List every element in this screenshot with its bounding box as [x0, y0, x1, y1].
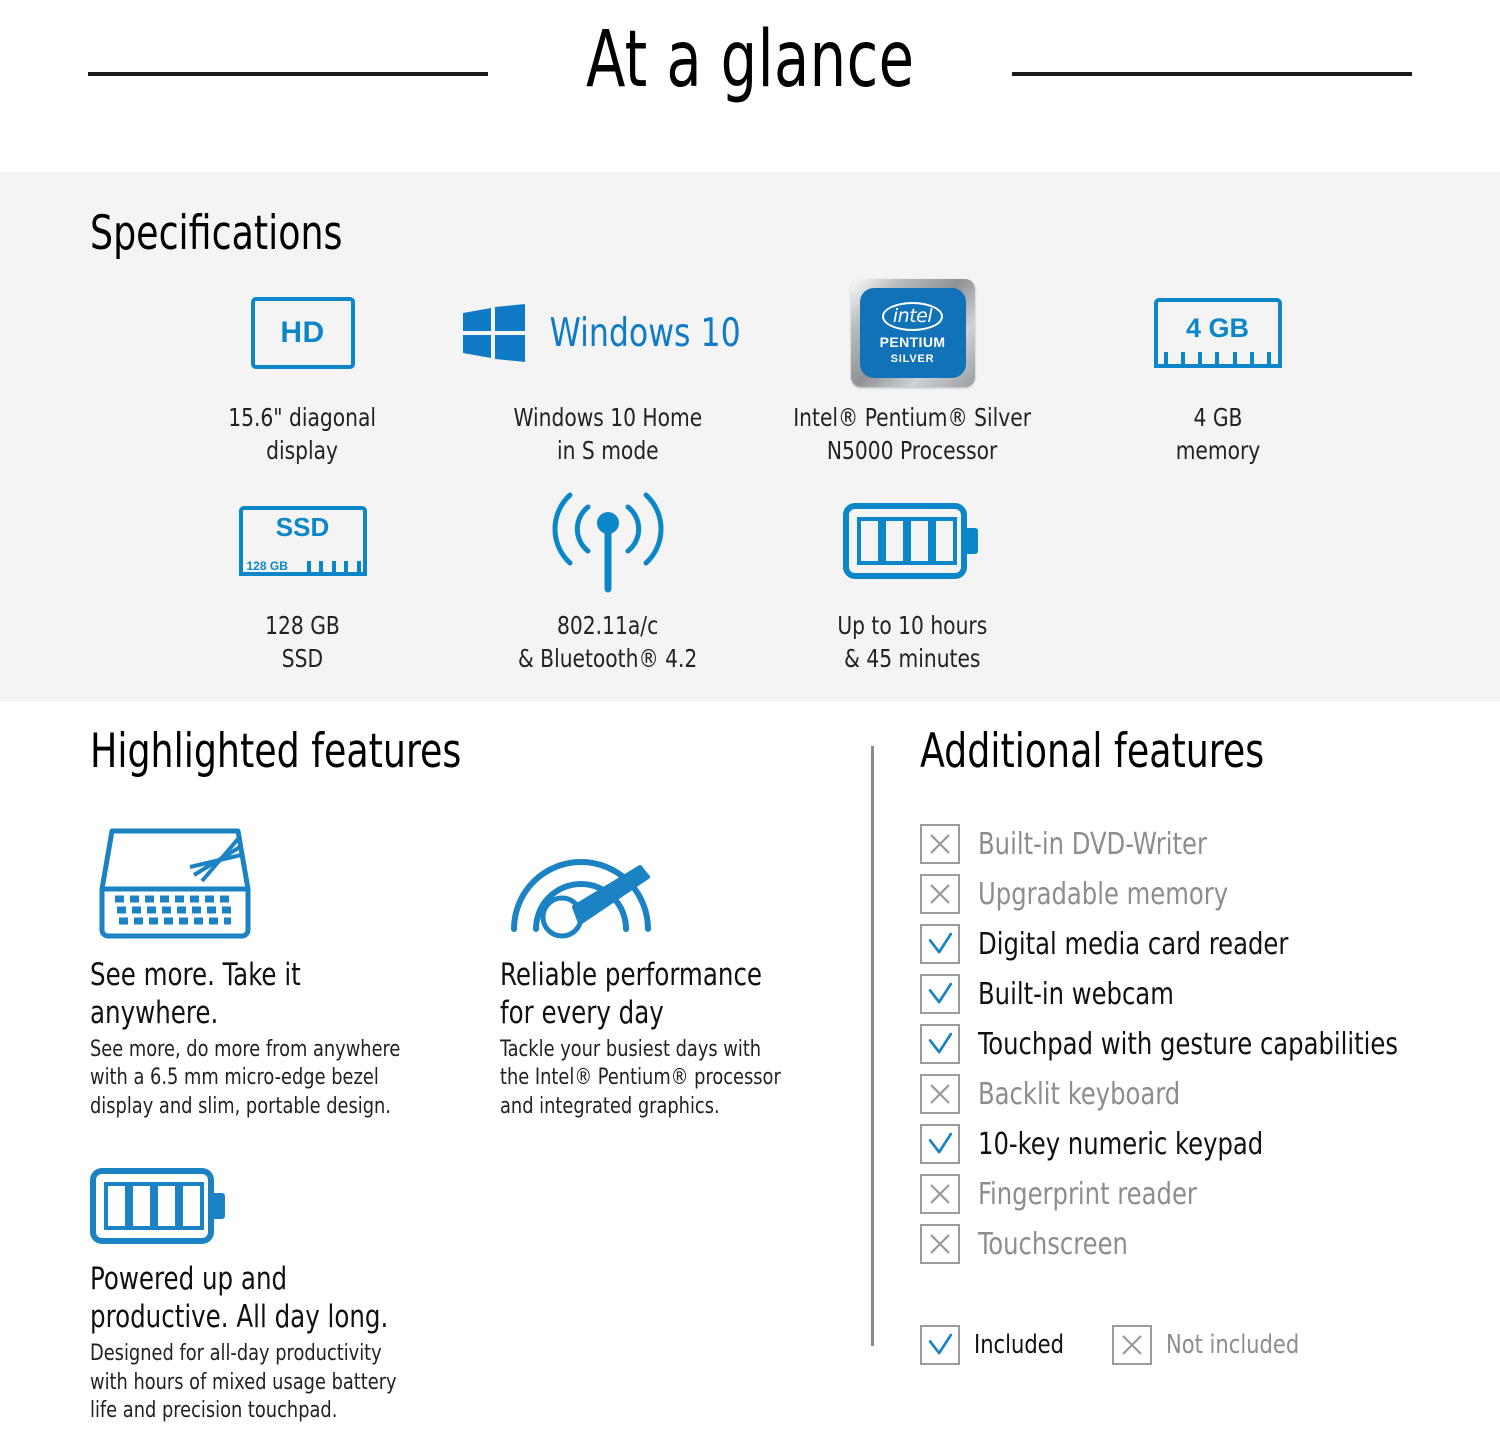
additional-features-title: Additional features — [920, 724, 1402, 779]
check-icon — [920, 1124, 960, 1164]
spec-label-battery: Up to 10 hours & 45 minutes — [838, 609, 988, 675]
legend-not-included-label: Not included — [1166, 1330, 1299, 1360]
specifications-title: Specifications — [90, 206, 1303, 261]
feature-label: Built-in webcam — [978, 977, 1174, 1012]
feature-label: Upgradable memory — [978, 877, 1228, 912]
cross-icon — [920, 1174, 960, 1214]
laptop-icon — [90, 821, 500, 943]
feature-label: Fingerprint reader — [978, 1177, 1197, 1212]
check-icon — [920, 1024, 960, 1064]
cross-icon — [1112, 1325, 1152, 1365]
windows-flag-icon — [463, 304, 525, 362]
page-title: At a glance — [586, 21, 914, 99]
feature-label: Built-in DVD-Writer — [978, 827, 1207, 862]
check-icon — [920, 924, 960, 964]
spec-item-storage: SSD 128 GB 128 GB SSD — [150, 487, 455, 675]
intel-wordmark: intel — [893, 305, 932, 327]
specifications-row-2: SSD 128 GB 128 GB SSD 802. — [0, 487, 1500, 675]
list-item[interactable]: Fingerprint reader — [920, 1169, 1480, 1219]
ssd-badge-text: SSD — [239, 512, 367, 543]
highlighted-feature-heading: See more. Take it anywhere. — [90, 957, 451, 1033]
spec-label-display: 15.6" diagonal display — [229, 401, 377, 467]
spec-item-battery: Up to 10 hours & 45 minutes — [760, 487, 1065, 675]
silver-wordmark: SILVER — [891, 353, 935, 365]
ssd-capacity-text: 128 GB — [247, 560, 288, 572]
section-divider — [871, 746, 874, 1346]
ssd-module-icon: SSD 128 GB — [239, 487, 367, 595]
battery-icon — [90, 1143, 500, 1247]
list-item[interactable]: Backlit keyboard — [920, 1069, 1480, 1119]
highlighted-features-column-1: See more. Take it anywhere. See more, do… — [90, 821, 500, 1444]
wifi-antenna-icon — [544, 487, 672, 595]
spec-label-wireless: 802.11a/c & Bluetooth® 4.2 — [518, 609, 697, 675]
cross-icon — [920, 824, 960, 864]
legend-included-label: Included — [974, 1330, 1064, 1360]
highlighted-features-section: Highlighted features — [90, 724, 850, 1444]
highlighted-features-column-2: Reliable performance for every day Tackl… — [500, 821, 830, 1444]
features-area: Highlighted features — [0, 702, 1500, 1389]
legend: Included Not included — [920, 1325, 1480, 1365]
highlighted-feature-heading: Reliable performance for every day — [500, 957, 790, 1033]
highlighted-feature-body: See more, do more from anywhere with a 6… — [90, 1036, 459, 1122]
spec-label-memory: 4 GB memory — [1175, 401, 1260, 467]
header-rule-left — [88, 72, 488, 76]
list-item[interactable]: 10-key numeric keypad — [920, 1119, 1480, 1169]
hd-display-icon: HD — [251, 279, 355, 387]
intel-pentium-silver-badge: intel PENTIUM SILVER — [851, 279, 975, 387]
spec-item-os: Windows 10 Windows 10 Home in S mode — [455, 279, 760, 467]
feature-label: Touchscreen — [978, 1227, 1128, 1262]
list-item[interactable]: Touchpad with gesture capabilities — [920, 1019, 1480, 1069]
specifications-panel: Specifications HD 15.6" diagonal display — [0, 172, 1500, 702]
spec-label-processor: Intel® Pentium® Silver N5000 Processor — [794, 401, 1032, 467]
battery-icon — [843, 487, 983, 595]
spec-item-processor: intel PENTIUM SILVER Intel® Pentium® Sil… — [760, 279, 1065, 467]
check-icon — [920, 974, 960, 1014]
hd-badge-text: HD — [280, 316, 324, 350]
header-rule-right — [1012, 72, 1412, 76]
highlighted-feature-battery: Powered up and productive. All day long.… — [90, 1143, 500, 1425]
memory-module-icon: 4 GB — [1154, 279, 1282, 387]
highlighted-feature-body: Designed for all-day productivity with h… — [90, 1340, 459, 1426]
cross-icon — [920, 874, 960, 914]
list-item[interactable]: Touchscreen — [920, 1219, 1480, 1269]
highlighted-feature-body: Tackle your busiest days with the Intel®… — [500, 1036, 797, 1122]
spec-item-memory: 4 GB 4 GB memory — [1065, 279, 1370, 467]
additional-features-list: Built-in DVD-Writer Upgradable memory Di… — [920, 819, 1480, 1365]
cross-icon — [920, 1074, 960, 1114]
spec-item-wireless: 802.11a/c & Bluetooth® 4.2 — [455, 487, 760, 675]
spec-label-storage: 128 GB SSD — [265, 609, 340, 675]
windows-10-logo: Windows 10 — [463, 279, 751, 387]
list-item[interactable]: Upgradable memory — [920, 869, 1480, 919]
highlighted-feature-performance: Reliable performance for every day Tackl… — [500, 821, 830, 1121]
highlighted-feature-display: See more. Take it anywhere. See more, do… — [90, 821, 500, 1121]
highlighted-feature-heading: Powered up and productive. All day long. — [90, 1261, 451, 1337]
spec-label-os: Windows 10 Home in S mode — [513, 401, 702, 467]
specifications-row-1: HD 15.6" diagonal display Windows 10 Win… — [0, 279, 1500, 467]
feature-label: 10-key numeric keypad — [978, 1127, 1263, 1162]
feature-label: Touchpad with gesture capabilities — [978, 1027, 1398, 1062]
page-header: At a glance — [0, 0, 1500, 172]
windows-wordmark: Windows 10 — [550, 311, 741, 356]
check-icon — [920, 1325, 960, 1365]
highlighted-features-title: Highlighted features — [90, 724, 744, 779]
list-item[interactable]: Digital media card reader — [920, 919, 1480, 969]
feature-label: Backlit keyboard — [978, 1077, 1180, 1112]
cross-icon — [920, 1224, 960, 1264]
pentium-wordmark: PENTIUM — [880, 334, 946, 350]
additional-features-section: Additional features Built-in DVD-Writer … — [920, 724, 1480, 1365]
feature-label: Digital media card reader — [978, 927, 1288, 962]
spec-item-display: HD 15.6" diagonal display — [150, 279, 455, 467]
speedometer-icon — [500, 821, 830, 943]
list-item[interactable]: Built-in DVD-Writer — [920, 819, 1480, 869]
list-item[interactable]: Built-in webcam — [920, 969, 1480, 1019]
